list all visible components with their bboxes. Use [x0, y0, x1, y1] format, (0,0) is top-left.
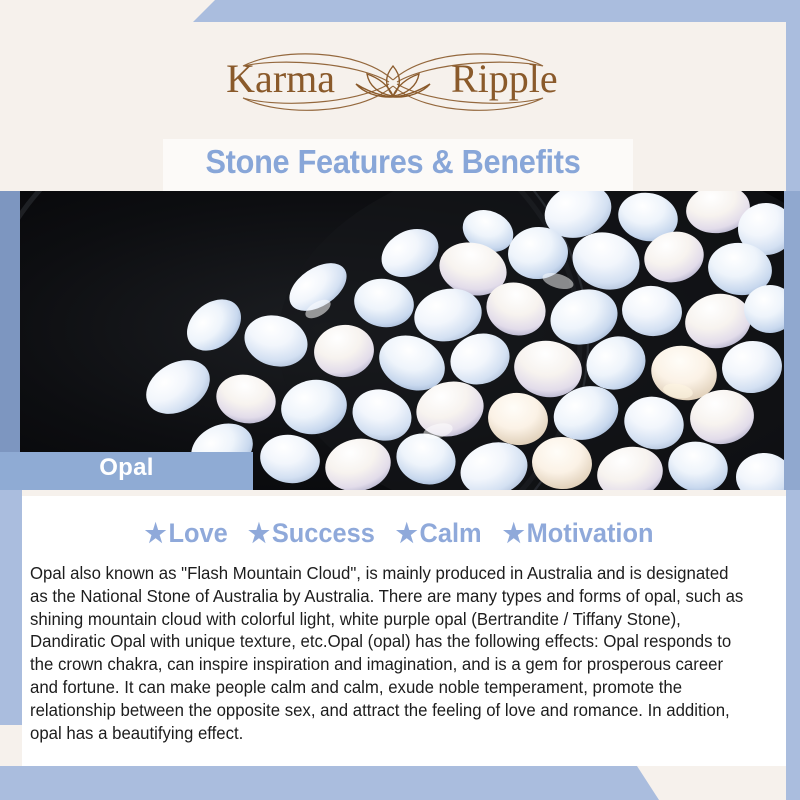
- page-title: Stone Features & Benefits: [28, 143, 759, 181]
- stone-description: Opal also known as "Flash Mountain Cloud…: [30, 562, 749, 744]
- top-border-band: [0, 0, 800, 22]
- keyword-label: Calm: [419, 518, 481, 548]
- photo-right-accent: [784, 191, 800, 490]
- bottom-border-band: [0, 766, 800, 800]
- brand-name-left: Karma: [226, 56, 335, 101]
- keyword-love: ★Love: [144, 518, 227, 549]
- infographic-page: Karma Ripple Stone Features & Benefits: [0, 0, 800, 800]
- left-border-band: [0, 470, 22, 725]
- brand-logo: Karma Ripple: [183, 40, 603, 126]
- keyword-label: Motivation: [527, 518, 654, 548]
- brand-name-right: Ripple: [451, 56, 558, 101]
- keyword-calm: ★Calm: [396, 518, 482, 549]
- star-icon: ★: [144, 518, 166, 548]
- benefit-keywords: ★Love★Success★Calm★Motivation: [0, 518, 800, 549]
- photo-left-accent: [0, 191, 20, 490]
- keyword-success: ★Success: [248, 518, 375, 549]
- keyword-label: Love: [168, 518, 227, 548]
- product-photo: [18, 191, 786, 490]
- star-icon: ★: [248, 518, 270, 548]
- stone-name: Opal: [0, 454, 253, 482]
- keyword-label: Success: [272, 518, 375, 548]
- star-icon: ★: [396, 518, 418, 548]
- photo-svg: [18, 191, 786, 490]
- keyword-motivation: ★Motivation: [503, 518, 654, 549]
- lotus-icon: Karma Ripple: [183, 40, 603, 126]
- star-icon: ★: [503, 518, 525, 548]
- brand-header: Karma Ripple: [0, 22, 786, 132]
